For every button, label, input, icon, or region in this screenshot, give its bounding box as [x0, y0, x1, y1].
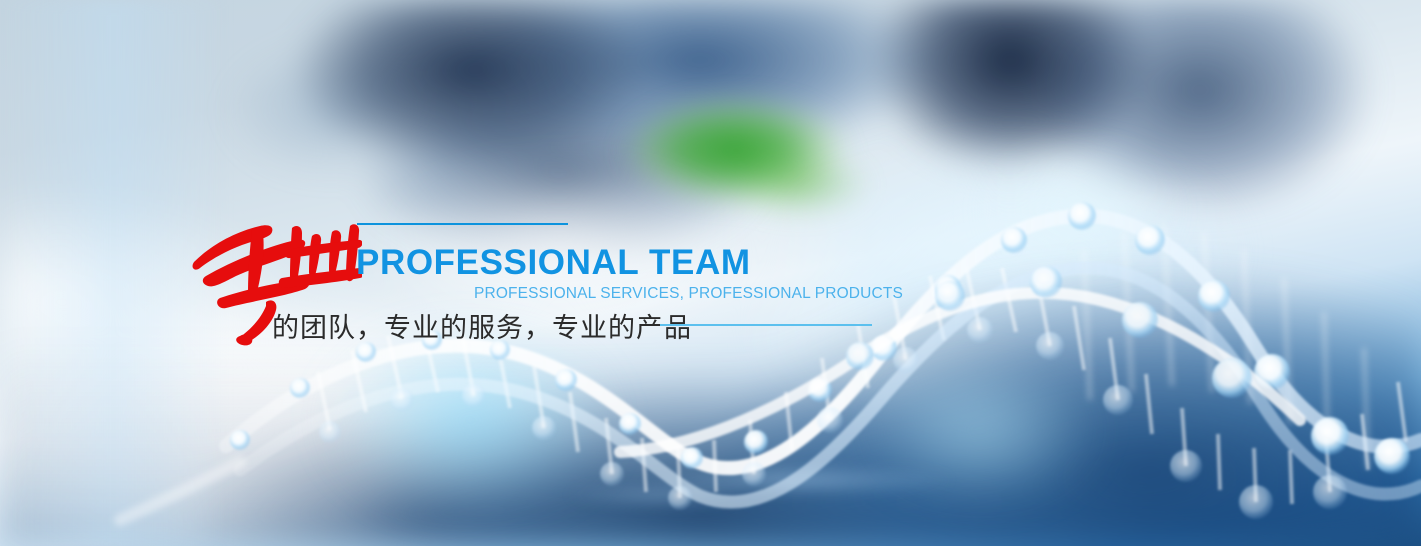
divider-bottom — [660, 324, 872, 326]
headline-professional-team: PROFESSIONAL TEAM — [356, 243, 751, 283]
tagline-chinese: 的团队，专业的服务，专业的产品 — [272, 306, 692, 345]
subheadline-professional-services: PROFESSIONAL SERVICES, PROFESSIONAL PROD… — [474, 285, 903, 303]
divider-top — [357, 223, 568, 225]
banner-text-block: PROFESSIONAL TEAM PROFESSIONAL SERVICES,… — [0, 0, 1421, 546]
hero-banner: PROFESSIONAL TEAM PROFESSIONAL SERVICES,… — [0, 0, 1421, 546]
